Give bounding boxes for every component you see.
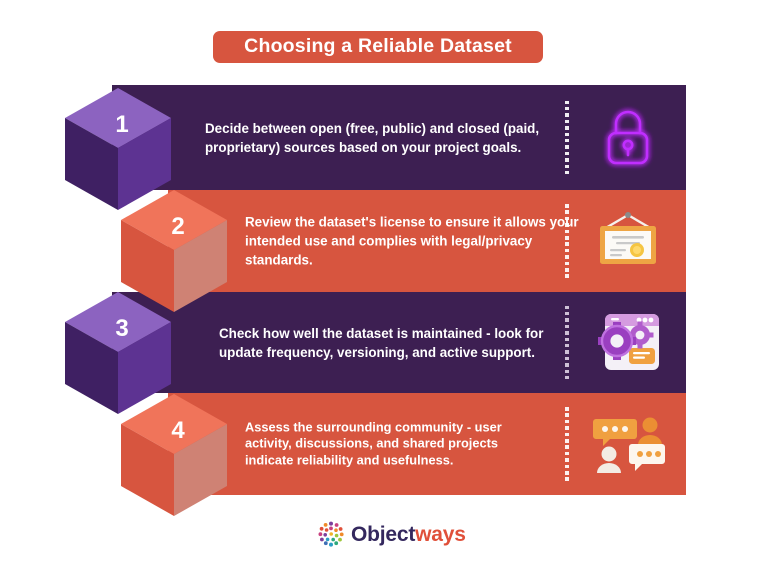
step-icon-3: [590, 305, 666, 381]
isometric-cube-icon: [119, 392, 229, 520]
objectways-dot-sphere-icon: [317, 520, 345, 548]
padlock-icon: [597, 105, 659, 171]
objectways-logo: Objectways: [317, 518, 466, 550]
page-title-pill: Choosing a Reliable Dataset: [213, 31, 543, 63]
step-text-2: Review the dataset's license to ensure i…: [245, 212, 585, 269]
dotted-divider-4: [565, 407, 569, 481]
community-chat-icon: [590, 413, 666, 475]
logo-wordmark: Objectways: [351, 524, 466, 545]
step-icon-1: [590, 100, 666, 176]
dotted-divider-3: [565, 306, 569, 380]
certificate-icon: [590, 209, 666, 273]
settings-gears-icon: [591, 308, 665, 378]
step-text-1: Decide between open (free, public) and c…: [205, 118, 545, 156]
step-icon-2: [590, 203, 666, 279]
step-text-4: Assess the surrounding community - user …: [245, 419, 545, 468]
step-text-3: Check how well the dataset is maintained…: [219, 323, 559, 361]
logo-word-one: Object: [351, 523, 415, 546]
step-cube-4: 4: [119, 392, 229, 520]
page-title: Choosing a Reliable Dataset: [244, 37, 512, 57]
step-icon-4: [590, 406, 666, 482]
logo-word-two: ways: [415, 523, 466, 546]
dotted-divider-2: [565, 204, 569, 278]
dotted-divider-1: [565, 101, 569, 175]
